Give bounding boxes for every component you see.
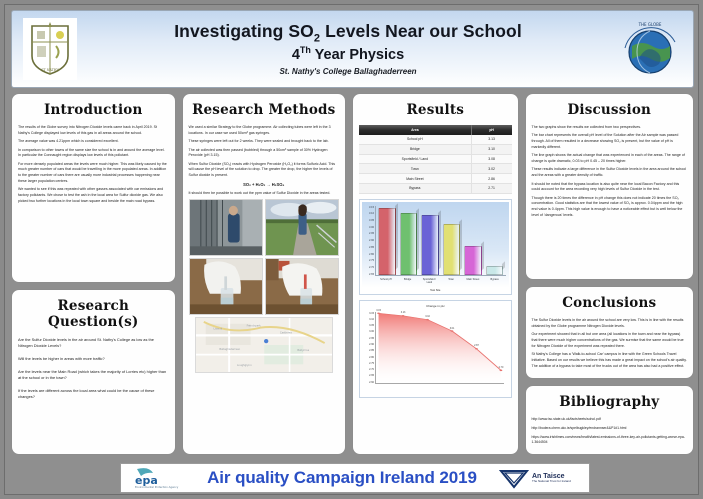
cell-ph: 3.10	[471, 144, 511, 154]
x-tick: Sportsfield / Land	[420, 278, 438, 284]
results-column-header-area: Area	[359, 125, 471, 135]
research-methods-paragraph: It should then be possible to work out t…	[189, 191, 340, 197]
poster-columns: Introduction The results of the Globe su…	[11, 93, 694, 455]
panel-research-question: Research Question(s) Are the Sulfur Diox…	[11, 289, 176, 455]
discussion-paragraph: These results indicate a large differenc…	[532, 167, 687, 178]
bibliography-heading: Bibliography	[532, 394, 687, 410]
y-tick: 2.70	[369, 266, 374, 269]
cell-area: Bypass	[359, 183, 471, 193]
research-question-list: Are the Sulfur Dioxide levels in the air…	[18, 337, 169, 400]
x-tick: School pH	[377, 278, 395, 284]
introduction-heading: Introduction	[18, 102, 169, 118]
bar-chart-y-axis: 3.15 3.10 3.05 3.00 2.95 2.90 2.85 2.80 …	[363, 206, 374, 276]
panel-research-methods: Research Methods We used a similar Strat…	[182, 93, 347, 455]
line-chart-point-label: 3.10	[425, 315, 430, 318]
research-question-item: Are the levels near the Main Road (which…	[18, 369, 169, 381]
y-tick: 3.15	[369, 206, 374, 209]
bar-slot	[421, 206, 438, 275]
panel-discussion: Discussion The two graphs show the resul…	[525, 93, 694, 280]
cell-ph: 3.08	[471, 154, 511, 164]
chemical-equation: SO₂ + H₂O₂ → H₂SO₄	[189, 182, 340, 188]
line-chart-title: Change in pH	[362, 304, 509, 308]
conclusions-paragraph: St Nathy's College has a 'Walk-to-school…	[532, 352, 687, 369]
panel-conclusions: Conclusions The Sulfur Dioxide levels in…	[525, 286, 694, 379]
table-row: Bridge 3.10	[359, 144, 512, 154]
subtitle-part-2: Year Physics	[311, 47, 404, 63]
y-tick: 2.60	[369, 381, 374, 384]
y-tick: 3.05	[369, 219, 374, 222]
y-tick: 3.10	[369, 212, 374, 215]
crest-svg: ST NATHY	[28, 22, 72, 76]
results-table-head: Area pH	[359, 125, 512, 135]
bar-chart-plot-area	[375, 206, 506, 276]
taisce-logo-svg	[499, 466, 529, 490]
introduction-body: The results of the Globe survey into Nit…	[18, 125, 169, 204]
research-question-heading: Research Question(s)	[18, 298, 169, 330]
cell-ph: 3.13	[471, 135, 511, 144]
discussion-paragraph: Though there is 20 times the difference …	[532, 196, 687, 219]
svg-text:Environmental Protection Agenc: Environmental Protection Agency	[135, 485, 179, 489]
poster-footer: epa Environmental Protection Agency Air …	[120, 463, 590, 493]
cell-ph: 2.86	[471, 174, 511, 184]
introduction-paragraph: We wanted to see if this was repeated wi…	[18, 187, 169, 204]
globe-logo-text: THE GLOBE	[638, 22, 662, 27]
ph-level-by-location-bar-chart: 3.15 3.10 3.05 3.00 2.95 2.90 2.85 2.80 …	[362, 202, 509, 288]
photo-students-collecting-syringe-at-gate	[189, 199, 263, 256]
research-methods-heading: Research Methods	[189, 102, 340, 118]
line-chart-point-label: 2.70	[499, 366, 504, 369]
school-name: St. Nathy's College Ballaghaderreen	[83, 67, 613, 76]
y-tick: 2.75	[369, 362, 374, 365]
column-research-methods: Research Methods We used a similar Strat…	[182, 93, 347, 455]
svg-text:Ballaghaderreen: Ballaghaderreen	[219, 347, 240, 351]
column-results: Results Area pH School pH 3.13	[352, 93, 519, 455]
research-question-item: If the levels are different across the l…	[18, 388, 169, 400]
y-tick: 2.85	[369, 349, 374, 352]
cell-ph: 3.02	[471, 164, 511, 174]
photo-map-of-sampling-locations: Lisacul Frenchpark Castlerea Ballaghader…	[195, 317, 333, 373]
line-chart-point-label: 2.87	[474, 345, 479, 348]
research-methods-paragraph: We used a similar Strategy to the Globe …	[189, 125, 340, 136]
svg-text:Lisacul: Lisacul	[213, 327, 222, 331]
bar-slot	[464, 206, 481, 275]
y-tick: 2.95	[369, 337, 374, 340]
bibliography-link[interactable]: http://www.isc.state.uk.uk/factsheets/so…	[532, 417, 687, 422]
map-svg: Lisacul Frenchpark Castlerea Ballaghader…	[196, 318, 332, 372]
bar-school	[378, 208, 395, 274]
globe-logo-svg: THE GLOBE	[619, 18, 681, 80]
y-tick: 2.65	[369, 374, 374, 377]
subtitle-part-1: 4	[292, 47, 300, 63]
poster-header: ST NATHY Investigating SO2 Levels Near o…	[11, 10, 694, 88]
x-tick: Bypass	[486, 278, 504, 284]
y-tick: 3.00	[369, 226, 374, 229]
bar-chart-x-axis: School pH Bridge Sportsfield / Land Town…	[375, 278, 506, 284]
research-methods-paragraph: These syringes were left out for 2 weeks…	[189, 139, 340, 145]
discussion-paragraph: The line graph shows the actual change t…	[532, 153, 687, 164]
line-chart-point-labels: 3.153.133.103.012.872.70	[376, 312, 504, 383]
x-tick: Bridge	[399, 278, 417, 284]
svg-text:Ballymoe: Ballymoe	[297, 348, 309, 352]
table-row: Bypass 2.71	[359, 183, 512, 193]
st-nathys-college-crest: ST NATHY	[23, 18, 77, 80]
epa-logo: epa Environmental Protection Agency	[129, 466, 185, 490]
y-tick: 3.05	[369, 324, 374, 327]
cell-area: Town	[359, 164, 471, 174]
svg-text:Frenchpark: Frenchpark	[246, 324, 261, 328]
column-introduction: Introduction The results of the Globe su…	[11, 93, 176, 455]
y-tick: 2.90	[369, 343, 374, 346]
photo-lab-work-bubbling-through-peroxide	[265, 258, 339, 315]
cell-ph: 2.71	[471, 183, 511, 193]
conclusions-heading: Conclusions	[532, 295, 687, 311]
photo-1-svg	[190, 200, 262, 255]
y-tick: 3.00	[369, 330, 374, 333]
an-taisce-text: An Taisce The National Trust for Ireland	[532, 473, 571, 483]
y-tick: 2.65	[369, 273, 374, 276]
table-row: Town 3.02	[359, 164, 512, 174]
page-title: Investigating SO2 Levels Near our School	[83, 22, 613, 45]
y-tick: 2.90	[369, 239, 374, 242]
line-chart-plot-area: 3.153.133.103.012.872.70	[375, 312, 504, 384]
page-subtitle: 4Th Year Physics	[83, 45, 613, 64]
bar-town	[443, 224, 460, 275]
bar-slot	[486, 206, 503, 275]
svg-text:Castlerea: Castlerea	[279, 331, 291, 335]
discussion-body: The two graphs show the results we colle…	[532, 125, 687, 218]
cell-area: Main Street	[359, 174, 471, 184]
research-methods-paragraph: The air collected was then passed (bubbl…	[189, 148, 340, 159]
y-tick: 2.80	[369, 253, 374, 256]
introduction-paragraph: The results of the Globe survey into Nit…	[18, 125, 169, 136]
results-heading: Results	[359, 102, 512, 118]
table-row: School pH 3.13	[359, 135, 512, 144]
photo-lab-work-syringe-into-beaker	[189, 258, 263, 315]
panel-results: Results Area pH School pH 3.13	[352, 93, 519, 455]
y-tick: 3.15	[369, 312, 374, 315]
y-tick: 3.10	[369, 318, 374, 321]
cell-area: Sportsfield / Land	[359, 154, 471, 164]
research-methods-photo-grid	[189, 199, 340, 315]
change-in-ph-line-chart: Change in pH 3.15 3.10 3.05 3.00 2.95 2.…	[362, 303, 509, 395]
discussion-paragraph: The bar chart represents the overall pH …	[532, 133, 687, 150]
line-chart-container: Change in pH 3.15 3.10 3.05 3.00 2.95 2.…	[359, 300, 512, 398]
conclusions-paragraph: The Sulfur Dioxide levels in the air aro…	[532, 318, 687, 329]
bibliography-link[interactable]: http://bodera.chem.ukc.ie/spelbugkley/en…	[532, 426, 687, 431]
cell-area: Bridge	[359, 144, 471, 154]
y-tick: 2.85	[369, 246, 374, 249]
table-row: Main Street 2.86	[359, 174, 512, 184]
conclusions-paragraph: Our experiment showed that in all but on…	[532, 332, 687, 349]
discussion-paragraph: The two graphs show the results we colle…	[532, 125, 687, 131]
y-tick: 2.75	[369, 259, 374, 262]
the-globe-program-logo: THE GLOBE	[619, 18, 681, 80]
table-row: Sportsfield / Land 3.08	[359, 154, 512, 164]
bibliography-link[interactable]: https://www.irishtimes.com/news/health/l…	[532, 435, 687, 445]
photo-3-svg	[190, 259, 262, 314]
an-taisce-subtitle: The National Trust for Ireland	[532, 480, 571, 483]
bar-slot	[378, 206, 395, 275]
conclusions-body: The Sulfur Dioxide levels in the air aro…	[532, 318, 687, 369]
line-chart-point-label: 3.15	[376, 309, 381, 312]
research-question-item: Are the Sulfur Dioxide levels in the air…	[18, 337, 169, 349]
line-chart-point-label: 3.13	[401, 312, 406, 315]
results-table-header-row: Area pH	[359, 125, 512, 135]
introduction-paragraph: For more densely populated areas the lev…	[18, 162, 169, 185]
y-tick: 2.80	[369, 356, 374, 359]
panel-introduction: Introduction The results of the Globe su…	[11, 93, 176, 283]
y-tick: 2.70	[369, 368, 374, 371]
panel-bibliography: Bibliography http://www.isc.state.uk.uk/…	[525, 385, 694, 455]
line-chart-point-label: 3.01	[450, 327, 455, 330]
poster-canvas: ST NATHY Investigating SO2 Levels Near o…	[4, 4, 699, 495]
photo-student-on-footbridge-collection-site	[265, 199, 339, 256]
results-table-body: School pH 3.13 Bridge 3.10 Sportsfield /…	[359, 135, 512, 193]
column-discussion: Discussion The two graphs show the resul…	[525, 93, 694, 455]
introduction-paragraph: In comparison to other towns of the same…	[18, 148, 169, 159]
bar-main-street	[464, 246, 481, 275]
results-column-header-ph: pH	[471, 125, 511, 135]
line-chart-y-axis: 3.15 3.10 3.05 3.00 2.95 2.90 2.85 2.80 …	[363, 312, 374, 384]
research-methods-paragraph: When Sulfur Dioxide (SO₂) reacts with Hy…	[189, 162, 340, 179]
bar-chart-x-label: Test Site	[362, 289, 509, 292]
title-part-2: Levels Near our School	[320, 21, 522, 41]
bar-slot	[443, 206, 460, 275]
title-part-1: Investigating SO	[174, 21, 314, 41]
x-tick: Main Street	[464, 278, 482, 284]
bar-bridge	[400, 213, 417, 275]
research-methods-body: We used a similar Strategy to the Globe …	[189, 125, 340, 196]
poster-title-block: Investigating SO2 Levels Near our School…	[77, 22, 619, 77]
epa-logo-svg: epa Environmental Protection Agency	[129, 466, 185, 490]
photo-4-svg	[266, 259, 338, 314]
bar-slot	[400, 206, 417, 275]
x-tick: Town	[442, 278, 460, 284]
photo-2-svg	[266, 200, 338, 255]
y-tick: 2.95	[369, 232, 374, 235]
svg-text:Loughglynn: Loughglynn	[236, 363, 251, 367]
discussion-heading: Discussion	[532, 102, 687, 118]
bar-sportsfield	[421, 215, 438, 274]
bar-chart-container: 3.15 3.10 3.05 3.00 2.95 2.90 2.85 2.80 …	[359, 199, 512, 295]
svg-text:ST NATHY: ST NATHY	[41, 68, 59, 72]
subtitle-superscript: Th	[300, 45, 311, 55]
research-question-item: Will the levels be higher in areas with …	[18, 356, 169, 362]
cell-area: School pH	[359, 135, 471, 144]
an-taisce-logo: An Taisce The National Trust for Ireland	[499, 466, 581, 490]
footer-campaign-title: Air quality Campaign Ireland 2019	[207, 468, 477, 488]
bibliography-list: http://www.isc.state.uk.uk/factsheets/so…	[532, 417, 687, 445]
discussion-paragraph: It should be noted that the bypass locat…	[532, 182, 687, 193]
results-table: Area pH School pH 3.13 Bridge 3.10	[359, 125, 512, 194]
introduction-paragraph: The average value was 4.21ppm which is c…	[18, 139, 169, 145]
bar-bypass	[486, 266, 503, 274]
